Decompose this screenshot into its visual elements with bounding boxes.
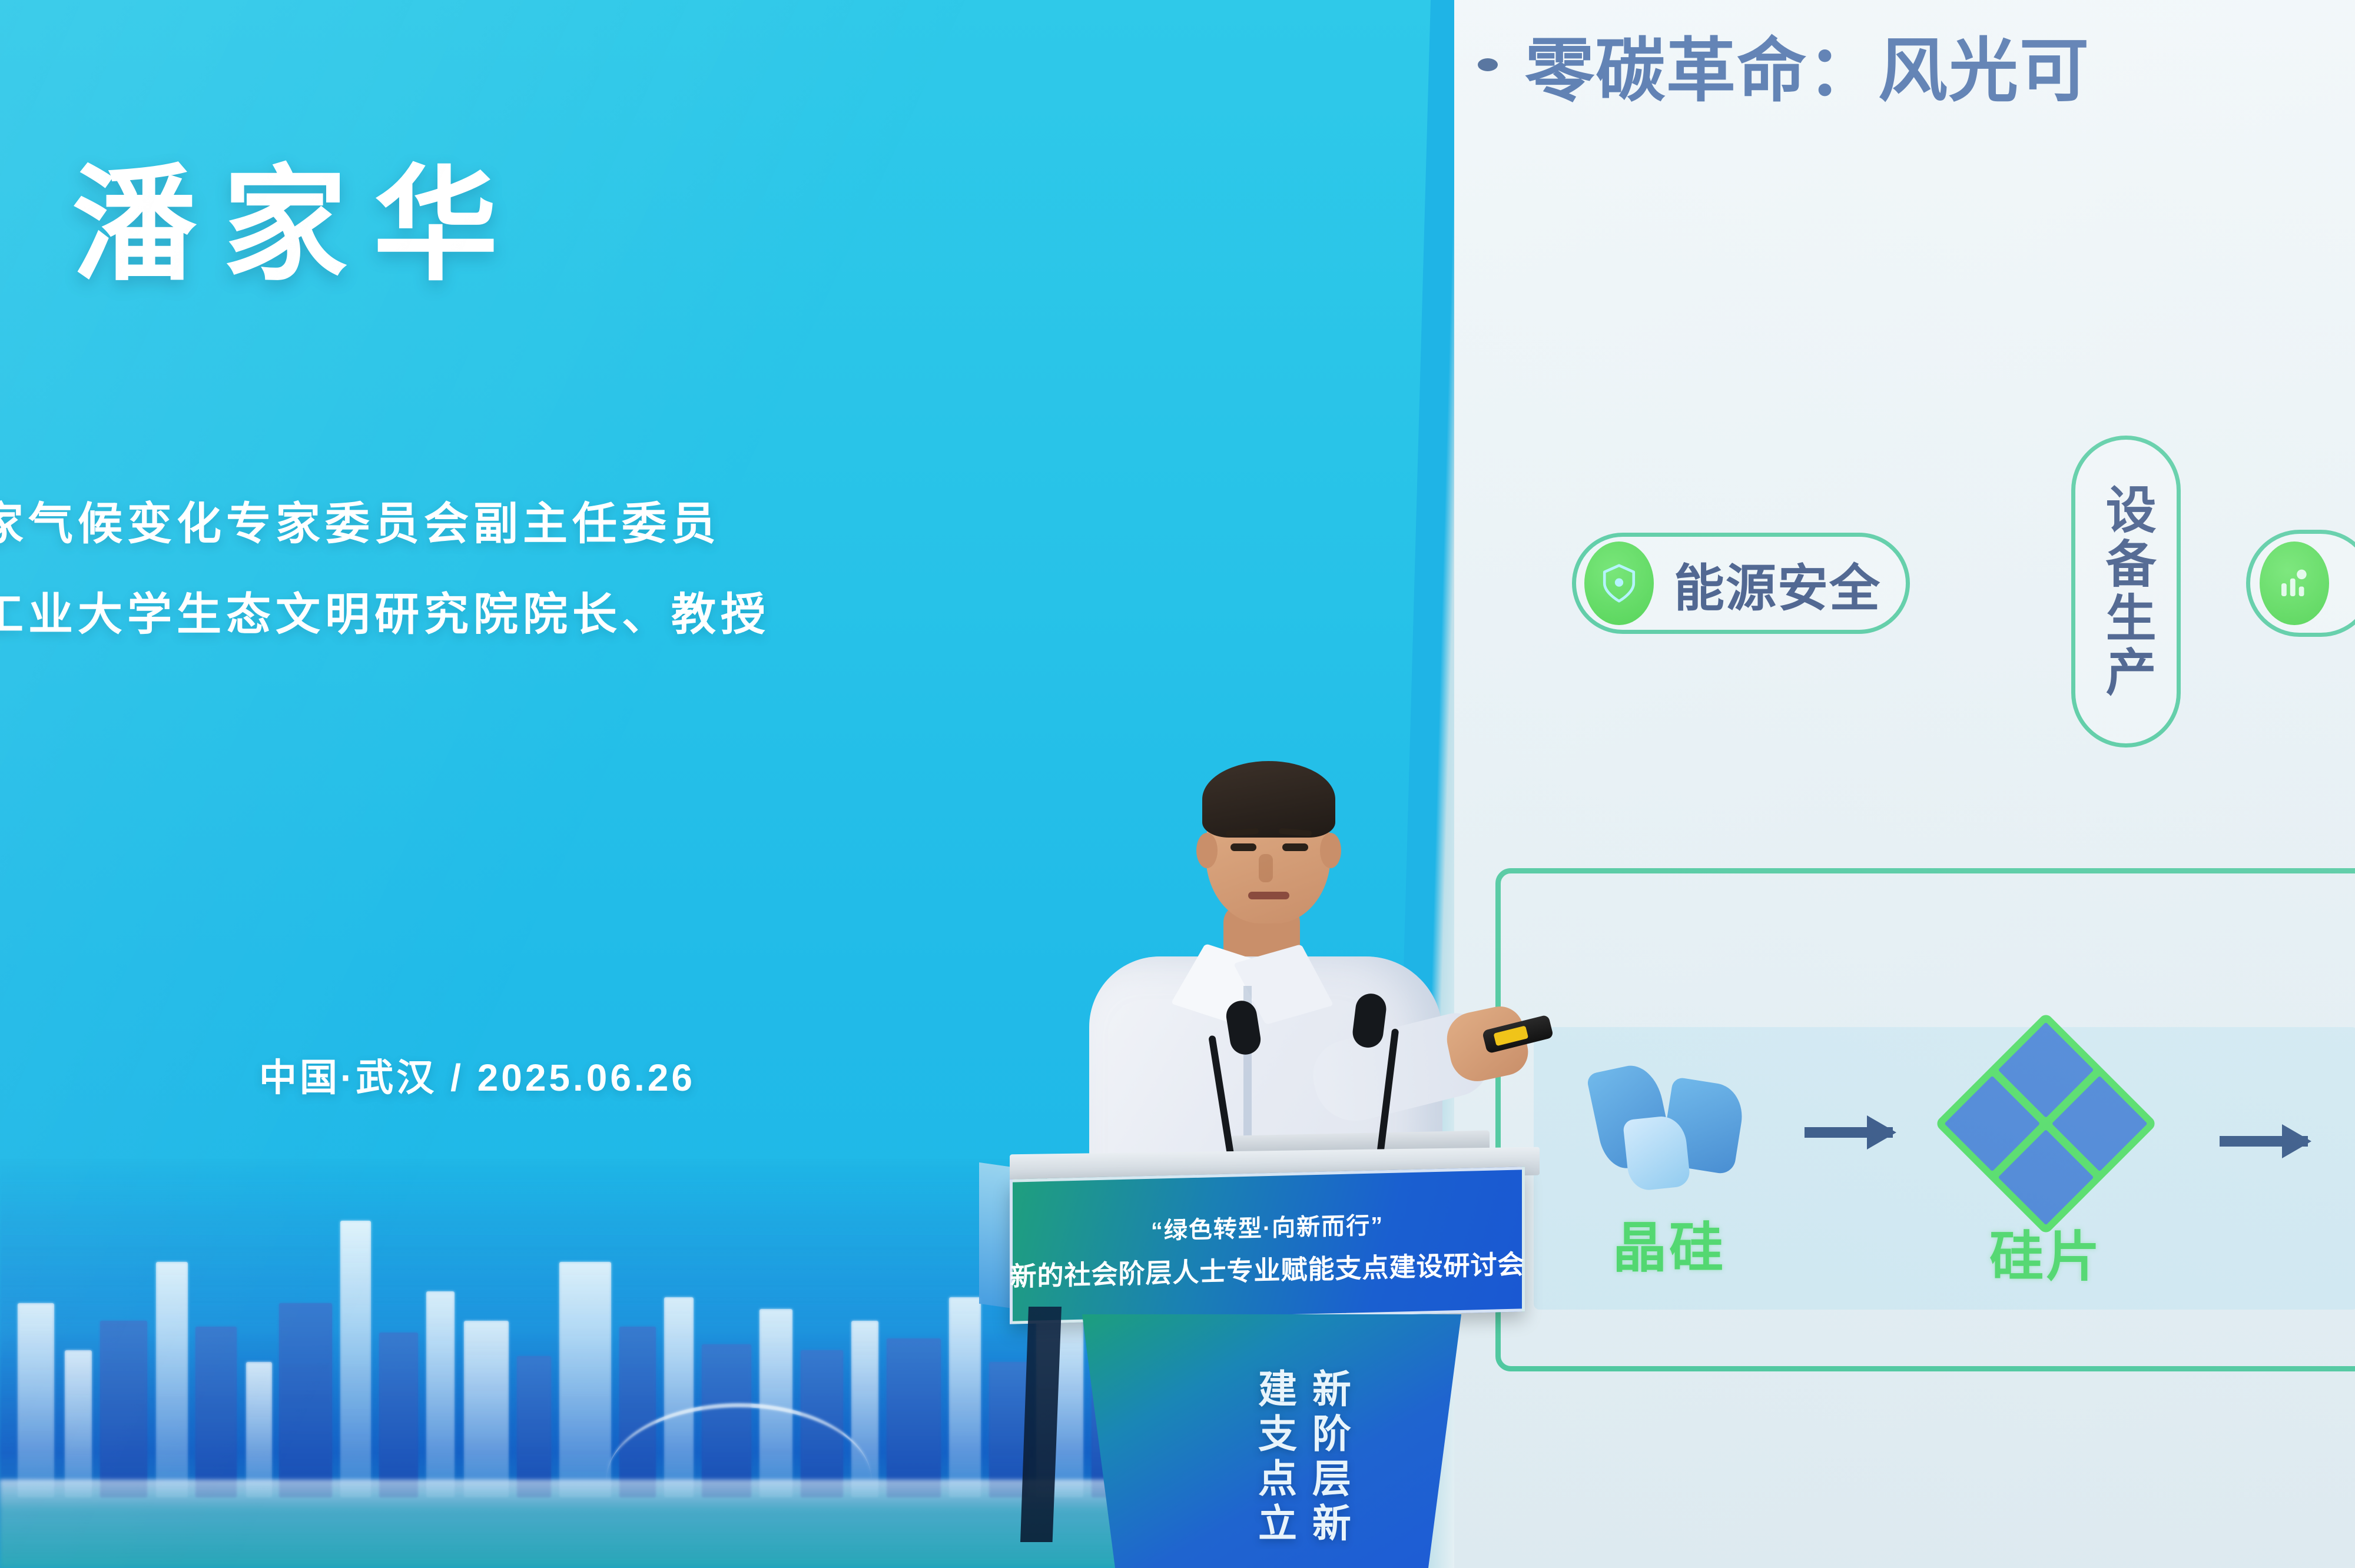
speaker-title-line-2: 工业大学生态文明研究院院长、教授 [0,578,770,643]
flow-arrow-2-icon [2220,1136,2308,1147]
flow-arrow-1-icon [1805,1127,1893,1138]
slide-heading: 零碳革命：风光可 [1525,14,2090,115]
flow-step-silicon: 晶硅 [1581,1054,1757,1283]
speaker-hair [1202,761,1335,838]
shield-icon [1584,542,1654,625]
chip-label-energy-security: 能源安全 [1674,547,1881,620]
silicon-chunk-icon [1596,1054,1743,1189]
podium-vertical-column-left: 建支点立 [1252,1368,1296,1568]
chip-chart-metric[interactable] [2246,530,2355,637]
podium: “绿色转型·向新而行” 新的社会阶层人士专业赋能支点建设研讨会 建支点立 新阶层… [1010,1151,1593,1568]
podium-vertical-slogan: 建支点立 新阶层新 [1207,1368,1395,1568]
flow-step-wafer: 硅片 [1949,1045,2143,1291]
podium-sign-line-1: “绿色转型·向新而行” [1151,1206,1384,1246]
silicon-wafer-icon [1934,1012,2157,1235]
bullet-dot-icon [1478,58,1498,71]
conference-stage-scene: 潘家华 家气候变化专家委员会副主任委员 工业大学生态文明研究院院长、教授 中国·… [0,0,2355,1568]
speaker-title-line-1: 家气候变化专家委员会副主任委员 [0,487,721,552]
podium-vertical-column-right: 新阶层新 [1306,1368,1350,1568]
podium-drape [1020,1307,1062,1542]
podium-sign: “绿色转型·向新而行” 新的社会阶层人士专业赋能支点建设研讨会 [1010,1174,1525,1321]
chip-equipment-production[interactable]: 设备生产 [2071,436,2181,748]
chip-label-equipment-production: 设备生产 [2099,483,2152,700]
podium-sign-line-2: 新的社会阶层人士专业赋能支点建设研讨会 [1010,1243,1524,1293]
bar-chart-icon [2260,542,2329,625]
slide-bullet-row: 零碳革命：风光可 [1478,14,2355,115]
podium-side-panel [979,1162,1013,1308]
event-place-and-date: 中国·武汉 / 2025.06.26 [259,1048,695,1102]
chip-energy-security[interactable]: 能源安全 [1572,533,1910,634]
speaker-name: 潘家华 [72,160,524,291]
flow-caption-silicon: 晶硅 [1581,1204,1757,1283]
